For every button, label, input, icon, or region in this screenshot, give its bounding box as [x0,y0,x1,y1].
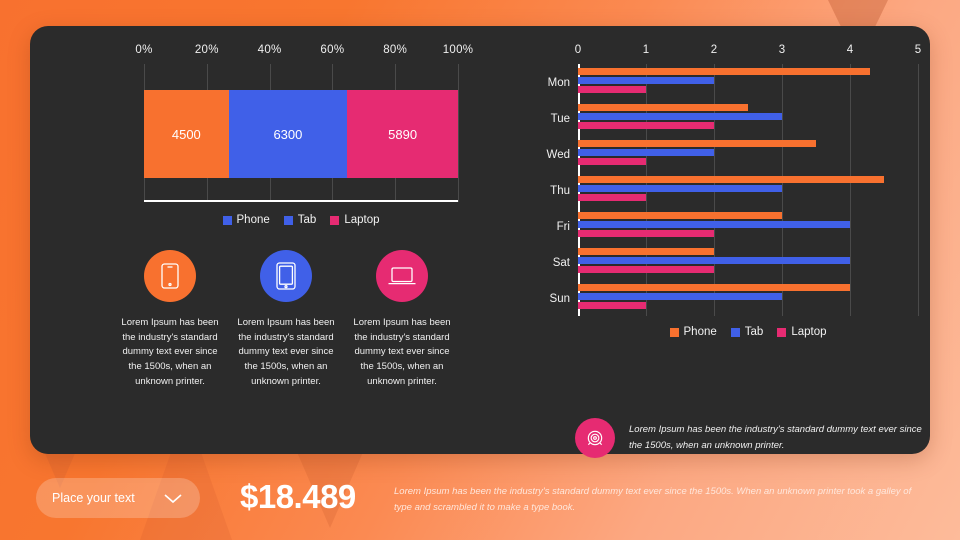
grouped-bar-plot: MonTueWedThuFriSatSun [578,64,918,316]
legend-label: Laptop [791,326,826,338]
callout-text: Lorem Ipsum has been the industry's stan… [629,422,925,453]
value-tick: 3 [779,44,785,56]
day-group: Fri [578,212,918,242]
day-bar [578,284,850,291]
stacked-segment: 5890 [347,90,458,178]
legend-item[interactable]: Laptop [777,326,826,338]
phone-icon [144,250,196,302]
day-label: Sun [550,293,570,305]
legend-item[interactable]: Tab [731,326,764,338]
day-group: Tue [578,104,918,134]
legend-label: Phone [237,214,270,226]
legend-item[interactable]: Tab [284,214,317,226]
legend-label: Tab [298,214,317,226]
day-bar [578,104,748,111]
feature-text: Lorem Ipsum has been the industry's stan… [234,316,338,390]
day-bar [578,230,714,237]
day-label: Sat [553,257,570,269]
laptop-icon [376,250,428,302]
percent-tick: 40% [258,44,282,56]
chart-baseline [144,200,458,202]
percent-axis: 0%20%40%60%80%100% [144,44,458,64]
legend-item[interactable]: Phone [670,326,717,338]
percent-tick: 60% [320,44,344,56]
day-bar [578,212,782,219]
day-label: Mon [548,77,570,89]
day-bar [578,149,714,156]
legend-label: Laptop [344,214,379,226]
target-icon [575,418,615,458]
day-bar [578,113,782,120]
content-card: 0%20%40%60%80%100% 450063005890 PhoneTab… [30,26,930,454]
day-label: Fri [557,221,570,233]
day-bar [578,158,646,165]
day-bar [578,176,884,183]
day-bar [578,293,782,300]
feature-item: Lorem Ipsum has been the industry's stan… [228,250,344,390]
chevron-down-icon [162,491,184,505]
value-tick: 5 [915,44,921,56]
day-bar [578,194,646,201]
dropdown-label: Place your text [52,491,162,505]
day-group: Sat [578,248,918,278]
place-your-text-dropdown[interactable]: Place your text [36,478,200,518]
day-bar [578,140,816,147]
day-bar [578,122,714,129]
feature-text: Lorem Ipsum has been the industry's stan… [350,316,454,390]
day-group: Wed [578,140,918,170]
feature-item: Lorem Ipsum has been the industry's stan… [112,250,228,390]
value-axis: 012345 [578,44,918,64]
day-group: Thu [578,176,918,206]
legend-swatch [330,216,339,225]
percent-tick: 20% [195,44,219,56]
stacked-chart-legend: PhoneTabLaptop [144,214,458,226]
day-bar [578,185,782,192]
gridline [458,64,459,202]
day-bar [578,248,714,255]
grouped-chart-legend: PhoneTabLaptop [578,326,918,338]
day-bar [578,257,850,264]
stacked-bar-plot: 450063005890 [144,64,458,202]
legend-swatch [731,328,740,337]
footer-text: Lorem Ipsum has been the industry's stan… [394,484,916,516]
day-group: Mon [578,68,918,98]
percent-tick: 80% [383,44,407,56]
feature-row: Lorem Ipsum has been the industry's stan… [112,250,488,390]
legend-label: Phone [684,326,717,338]
percent-tick: 100% [443,44,474,56]
day-bar [578,302,646,309]
tablet-icon [260,250,312,302]
day-label: Wed [547,149,570,161]
gridline [918,64,919,316]
grouped-bar-chart-panel: 012345 MonTueWedThuFriSatSun PhoneTabLap… [540,44,940,338]
day-group: Sun [578,284,918,314]
stacked-bar-chart-panel: 0%20%40%60%80%100% 450063005890 PhoneTab… [108,44,488,390]
value-tick: 0 [575,44,581,56]
legend-swatch [284,216,293,225]
callout-block: Lorem Ipsum has been the industry's stan… [575,418,925,458]
percent-tick: 0% [135,44,152,56]
legend-item[interactable]: Phone [223,214,270,226]
legend-swatch [777,328,786,337]
legend-label: Tab [745,326,764,338]
stacked-segment: 4500 [144,90,229,178]
day-bar [578,68,870,75]
day-bar [578,266,714,273]
legend-item[interactable]: Laptop [330,214,379,226]
amount-value: $18.489 [240,478,356,516]
value-tick: 1 [643,44,649,56]
legend-swatch [670,328,679,337]
feature-text: Lorem Ipsum has been the industry's stan… [118,316,222,390]
value-tick: 2 [711,44,717,56]
stacked-bar: 450063005890 [144,90,458,178]
day-bar [578,77,714,84]
day-bar [578,221,850,228]
stacked-segment: 6300 [229,90,348,178]
day-bar [578,86,646,93]
legend-swatch [223,216,232,225]
feature-item: Lorem Ipsum has been the industry's stan… [344,250,460,390]
day-label: Thu [550,185,570,197]
day-label: Tue [551,113,570,125]
value-tick: 4 [847,44,853,56]
